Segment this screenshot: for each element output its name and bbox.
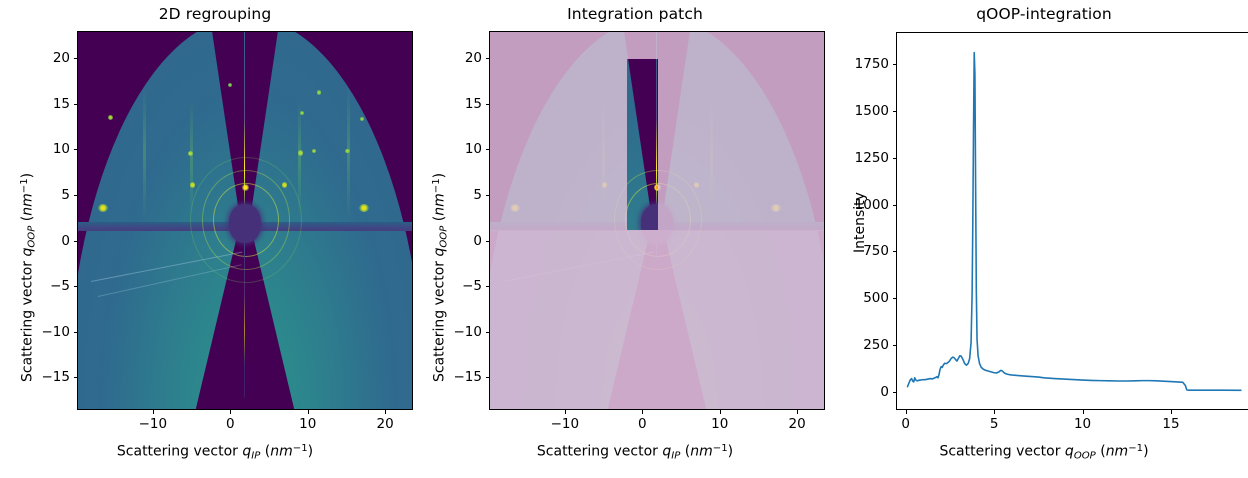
ytick-mark: [74, 149, 78, 150]
ytick-label: 0: [61, 233, 70, 249]
ytick-mark: [486, 241, 490, 242]
xtick-label: 10: [299, 416, 316, 432]
ytick-mark: [74, 104, 78, 105]
yaxis-label-patch: Scattering vector qOOP (nm−1): [431, 173, 449, 382]
crystal-truncation-rod: [347, 85, 350, 221]
xtick-label: 5: [990, 416, 999, 432]
ytick-mark: [74, 286, 78, 287]
xtick-mark: [797, 410, 798, 414]
xtick-mark: [1083, 410, 1084, 414]
ytick-mark: [486, 195, 490, 196]
ytick-label: −15: [42, 369, 71, 385]
xaxis-label-2d: Scattering vector qIP (nm−1): [0, 443, 430, 461]
ytick-label: 0: [473, 233, 482, 249]
xtick-label: 10: [711, 416, 728, 432]
ytick-label: 750: [863, 243, 889, 259]
ytick-mark: [893, 111, 897, 112]
xtick-label: −10: [139, 416, 168, 432]
ytick-label: −10: [42, 324, 71, 340]
xtick-mark: [230, 410, 231, 414]
panel-qoop-integration: qOOP-integration Scattering vector qOOP …: [840, 0, 1248, 478]
ytick-mark: [893, 64, 897, 65]
ytick-label: −5: [462, 278, 482, 294]
xtick-mark: [385, 410, 386, 414]
ytick-mark: [74, 195, 78, 196]
ytick-label: 20: [465, 50, 482, 66]
figure-canvas: 2D regrouping: [0, 0, 1248, 478]
panel-title-integration-patch: Integration patch: [430, 5, 840, 23]
panel-title-qoop-integration: qOOP-integration: [840, 5, 1248, 23]
xtick-label: 10: [1074, 416, 1091, 432]
crystal-truncation-rod: [143, 85, 146, 221]
panel-integration-patch: Integration patch: [430, 0, 840, 478]
ytick-label: −15: [454, 369, 483, 385]
ytick-label: −10: [454, 324, 483, 340]
panel-title-2d-regrouping: 2D regrouping: [0, 5, 430, 23]
intensity-curve-svg: [897, 33, 1248, 409]
ytick-label: 10: [465, 141, 482, 157]
bragg-spot: [98, 204, 108, 212]
ytick-mark: [486, 58, 490, 59]
ytick-label: 15: [465, 96, 482, 112]
ytick-label: 0: [880, 384, 889, 400]
xtick-label: 0: [638, 416, 647, 432]
xtick-label: 0: [901, 416, 910, 432]
ytick-mark: [893, 345, 897, 346]
patch-wash-lower: [490, 230, 824, 409]
ytick-mark: [74, 377, 78, 378]
xtick-mark: [906, 410, 907, 414]
ytick-mark: [74, 332, 78, 333]
ytick-mark: [893, 205, 897, 206]
crystal-truncation-rod: [298, 100, 301, 217]
xtick-mark: [153, 410, 154, 414]
ytick-label: 15: [53, 96, 70, 112]
ytick-label: 1750: [855, 56, 889, 72]
ytick-mark: [74, 241, 78, 242]
panel-2d-regrouping: 2D regrouping: [0, 0, 430, 478]
ytick-mark: [893, 251, 897, 252]
ytick-mark: [893, 392, 897, 393]
bragg-spot: [282, 182, 287, 188]
ytick-label: 5: [473, 187, 482, 203]
axes-qoop-integration: [896, 32, 1248, 410]
ytick-label: 10: [53, 141, 70, 157]
ytick-mark: [486, 332, 490, 333]
ytick-label: 1000: [855, 197, 889, 213]
ytick-label: 500: [863, 290, 889, 306]
scattering-image-2d: [78, 32, 412, 409]
ytick-mark: [486, 377, 490, 378]
crystal-truncation-rod: [190, 100, 193, 217]
xtick-label: 20: [789, 416, 806, 432]
bragg-spot: [317, 90, 321, 95]
xtick-label: 0: [226, 416, 235, 432]
xaxis-label-qoop: Scattering vector qOOP (nm−1): [840, 443, 1248, 461]
ytick-mark: [74, 58, 78, 59]
xtick-mark: [642, 410, 643, 414]
xtick-label: 15: [1162, 416, 1179, 432]
ytick-mark: [486, 149, 490, 150]
xtick-mark: [994, 410, 995, 414]
specular-streak-lower: [244, 228, 246, 398]
ytick-label: 5: [61, 187, 70, 203]
axes-integration-patch: [489, 31, 825, 410]
beamstop-shadow: [229, 204, 261, 243]
yaxis-label-2d: Scattering vector qOOP (nm−1): [19, 173, 37, 382]
bragg-spot: [359, 204, 369, 212]
ytick-label: 250: [863, 337, 889, 353]
ytick-mark: [893, 298, 897, 299]
ytick-label: 1500: [855, 103, 889, 119]
intensity-curve: [908, 53, 1241, 391]
xtick-mark: [1171, 410, 1172, 414]
xtick-mark: [720, 410, 721, 414]
axes-2d-regrouping: [77, 31, 413, 410]
scattering-image-patch: [490, 32, 824, 409]
ytick-mark: [893, 158, 897, 159]
xtick-mark: [308, 410, 309, 414]
intensity-line-plot: [897, 33, 1248, 409]
ytick-label: 1250: [855, 150, 889, 166]
xtick-label: −10: [551, 416, 580, 432]
xtick-mark: [565, 410, 566, 414]
ytick-label: 20: [53, 50, 70, 66]
integration-patch-region[interactable]: [627, 59, 658, 230]
ytick-label: −5: [50, 278, 70, 294]
bragg-spot: [108, 115, 113, 120]
ytick-mark: [486, 286, 490, 287]
ytick-mark: [486, 104, 490, 105]
xaxis-label-patch: Scattering vector qIP (nm−1): [430, 443, 840, 461]
xtick-label: 20: [377, 416, 394, 432]
